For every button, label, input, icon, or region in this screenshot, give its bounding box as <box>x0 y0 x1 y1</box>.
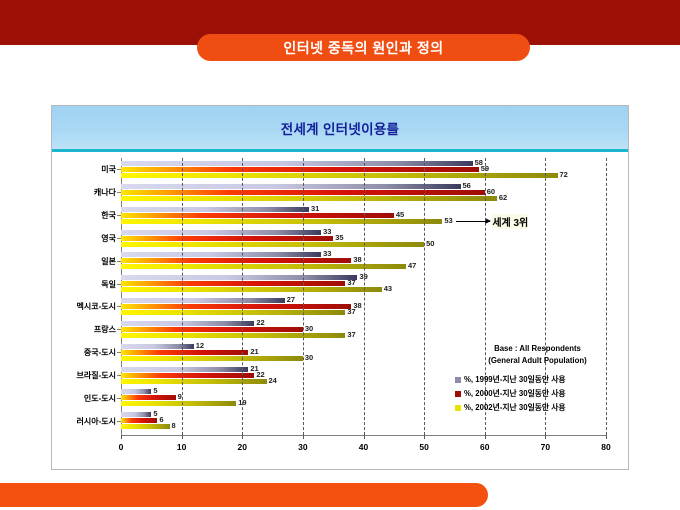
bar-value-label: 30 <box>303 324 313 333</box>
category-label: 러시아-도시 <box>77 416 121 427</box>
x-tick-mark <box>606 435 607 439</box>
bar-1 <box>121 230 321 235</box>
gridline <box>182 158 183 435</box>
x-tick-label: 70 <box>541 442 550 452</box>
chart-legend: Base : All Respondents (General Adult Po… <box>455 343 620 416</box>
x-tick-mark <box>121 435 122 439</box>
bar-value-label: 33 <box>321 249 331 258</box>
bar-value-label: 47 <box>406 261 416 270</box>
bar-value-label: 37 <box>345 307 355 316</box>
legend-base-note: Base : All Respondents (General Adult Po… <box>455 343 620 367</box>
bar-1 <box>121 321 254 326</box>
bar-value-label: 72 <box>558 170 568 179</box>
legend-item: %, 2002년-지난 30일동안 사용 <box>455 402 620 413</box>
x-tick-mark <box>364 435 365 439</box>
x-tick-label: 50 <box>419 442 428 452</box>
bar-value-label: 60 <box>485 187 495 196</box>
x-tick-label: 20 <box>238 442 247 452</box>
bar-2 <box>121 373 254 378</box>
bar-value-label: 38 <box>351 255 361 264</box>
annotation-text: 세계 3위 <box>492 214 528 229</box>
bar-3 <box>121 310 345 315</box>
bar-3 <box>121 287 382 292</box>
bar-value-label: 22 <box>254 318 264 327</box>
legend-label: %, 1999년-지난 30일동안 사용 <box>464 374 566 385</box>
bar-2 <box>121 304 351 309</box>
bar-2 <box>121 213 394 218</box>
gridline <box>242 158 243 435</box>
bar-value-label: 30 <box>303 353 313 362</box>
bar-2 <box>121 395 176 400</box>
bar-1 <box>121 275 357 280</box>
category-label: 브라질-도시 <box>77 370 121 381</box>
x-tick-mark <box>182 435 183 439</box>
slide-bottom-band <box>0 483 488 507</box>
bar-value-label: 37 <box>345 278 355 287</box>
bar-value-label: 8 <box>170 421 176 430</box>
bar-3 <box>121 424 170 429</box>
bar-value-label: 24 <box>267 376 277 385</box>
bar-1 <box>121 298 285 303</box>
bar-3 <box>121 401 236 406</box>
x-tick-mark <box>545 435 546 439</box>
x-tick-mark <box>242 435 243 439</box>
chart-card: 전세계 인터넷이용를 미국585972캐나다566062한국314553영국33… <box>51 105 629 470</box>
chart-plot-area: 미국585972캐나다566062한국314553영국333550일본33384… <box>52 152 628 470</box>
bar-value-label: 33 <box>321 227 331 236</box>
bar-1 <box>121 184 461 189</box>
legend-swatch-icon <box>455 405 461 411</box>
bar-2 <box>121 350 248 355</box>
bar-2 <box>121 327 303 332</box>
bar-3 <box>121 173 558 178</box>
category-label: 독일 <box>101 279 121 290</box>
bar-2 <box>121 281 345 286</box>
bar-value-label: 21 <box>248 347 258 356</box>
category-label: 인도-도시 <box>84 393 121 404</box>
category-label: 멕시코-도시 <box>77 301 121 312</box>
legend-base-line2: (General Adult Population) <box>455 355 620 367</box>
bar-3 <box>121 242 424 247</box>
x-tick-label: 10 <box>177 442 186 452</box>
category-label: 미국 <box>101 164 121 175</box>
category-label: 중국-도시 <box>84 347 121 358</box>
gridline <box>424 158 425 435</box>
chart-title: 전세계 인터넷이용를 <box>281 118 400 138</box>
bar-1 <box>121 344 194 349</box>
bar-1 <box>121 412 151 417</box>
bar-1 <box>121 367 248 372</box>
x-tick-mark <box>303 435 304 439</box>
category-label: 영국 <box>101 233 121 244</box>
x-tick-label: 80 <box>601 442 610 452</box>
x-tick-label: 40 <box>359 442 368 452</box>
legend-swatch-icon <box>455 377 461 383</box>
bar-1 <box>121 161 473 166</box>
bar-1 <box>121 389 151 394</box>
bar-2 <box>121 258 351 263</box>
bar-value-label: 22 <box>254 370 264 379</box>
x-tick-mark <box>424 435 425 439</box>
bar-2 <box>121 418 157 423</box>
chart-annotation: 세계 3위 <box>456 214 528 229</box>
bar-2 <box>121 236 333 241</box>
legend-label: %, 2002년-지난 30일동안 사용 <box>464 402 566 413</box>
bar-value-label: 27 <box>285 295 295 304</box>
chart-header: 전세계 인터넷이용를 <box>52 106 628 152</box>
x-tick-label: 60 <box>480 442 489 452</box>
category-label: 프랑스 <box>94 324 121 335</box>
legend-item: %, 2000년-지난 30일동안 사용 <box>455 388 620 399</box>
bar-value-label: 31 <box>309 204 319 213</box>
x-tick-mark <box>485 435 486 439</box>
category-label: 일본 <box>101 256 121 267</box>
slide-title-pill: 인터넷 중독의 원인과 정의 <box>197 34 530 61</box>
bar-value-label: 5 <box>151 386 157 395</box>
gridline <box>303 158 304 435</box>
bar-3 <box>121 379 267 384</box>
category-label: 한국 <box>101 210 121 221</box>
slide-title: 인터넷 중독의 원인과 정의 <box>283 38 443 58</box>
bar-value-label: 43 <box>382 284 392 293</box>
bar-1 <box>121 207 309 212</box>
bar-3 <box>121 196 497 201</box>
bar-value-label: 35 <box>333 233 343 242</box>
legend-label: %, 2000년-지난 30일동안 사용 <box>464 388 566 399</box>
x-tick-label: 0 <box>119 442 124 452</box>
gridline <box>364 158 365 435</box>
bar-value-label: 6 <box>157 415 163 424</box>
legend-swatch-icon <box>455 391 461 397</box>
x-tick-label: 30 <box>298 442 307 452</box>
category-label: 캐나다 <box>94 187 121 198</box>
bar-value-label: 37 <box>345 330 355 339</box>
bar-1 <box>121 252 321 257</box>
bar-value-label: 56 <box>461 181 471 190</box>
bar-3 <box>121 356 303 361</box>
bar-value-label: 45 <box>394 210 404 219</box>
bar-value-label: 12 <box>194 341 204 350</box>
bar-value-label: 50 <box>424 239 434 248</box>
legend-item: %, 1999년-지난 30일동안 사용 <box>455 374 620 385</box>
bar-3 <box>121 333 345 338</box>
bar-value-label: 53 <box>442 216 452 225</box>
legend-base-line1: Base : All Respondents <box>455 343 620 355</box>
bar-3 <box>121 219 442 224</box>
bar-value-label: 62 <box>497 193 507 202</box>
